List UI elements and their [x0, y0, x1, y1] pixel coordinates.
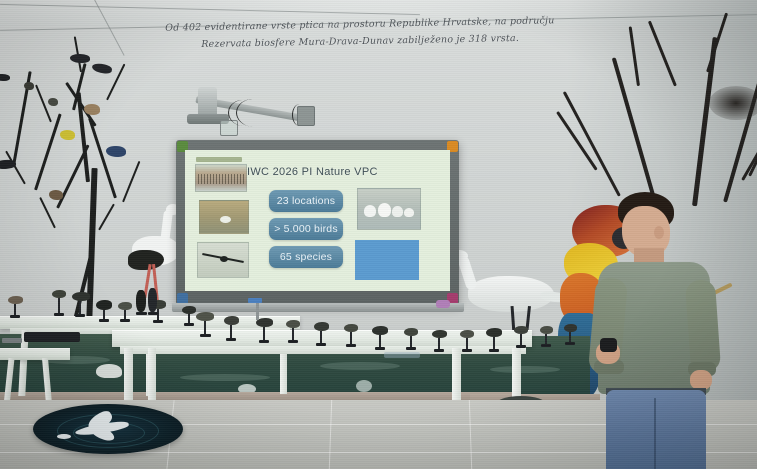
table-stand	[256, 300, 259, 320]
table-leg	[148, 348, 156, 408]
interactive-whiteboard[interactable]: IWC 2026 PI Nature VPC	[176, 140, 459, 305]
tree-twig	[39, 197, 56, 228]
branch-limb	[563, 91, 621, 197]
swan-on-water-photo	[199, 200, 249, 234]
presentation-slide: IWC 2026 PI Nature VPC	[185, 150, 450, 291]
mural-bird-small	[24, 82, 34, 90]
swans-group-photo	[357, 188, 421, 230]
branch-twig	[628, 26, 639, 86]
slide-pill-birds: > 5.000 birds	[269, 218, 343, 240]
branch-twig	[648, 21, 677, 87]
blue-placeholder-block	[355, 240, 419, 280]
slide-title: IWC 2026 PI Nature VPC	[247, 166, 378, 178]
desk-card	[2, 338, 22, 343]
tree-twig	[98, 204, 115, 231]
display-tray	[24, 332, 80, 342]
mural-bird-dark	[0, 74, 10, 81]
table-label	[384, 352, 420, 358]
mural-bird-crow	[70, 54, 90, 63]
branch-twig	[706, 13, 728, 73]
whiteboard-pen-tray[interactable]	[172, 303, 464, 312]
presenter-jeans	[606, 390, 706, 469]
presenter-arm-right	[685, 279, 721, 373]
mural-bird-sparrow	[84, 104, 100, 115]
presenter	[592, 192, 727, 469]
room-photo-scene: Od 402 evidentirane vrste ptica na prost…	[0, 0, 757, 469]
branch-limb	[723, 48, 757, 203]
blue-label	[248, 298, 262, 303]
mural-bird-kingfisher	[106, 146, 126, 157]
tree-limb	[34, 113, 62, 190]
presenter-ear	[654, 226, 664, 239]
bird-in-flight-photo	[197, 242, 249, 278]
branch-limb	[612, 57, 657, 202]
mural-bird-brown	[49, 190, 63, 200]
tree-twig	[122, 161, 140, 203]
branch-foliage	[709, 86, 757, 120]
magenta-object	[436, 300, 450, 308]
presentation-remote[interactable]	[600, 338, 617, 352]
projector-mount-post	[198, 87, 217, 117]
mural-bird-yellow	[60, 130, 75, 140]
round-bird-rug	[33, 404, 183, 454]
jeans-seam	[654, 398, 656, 469]
mural-bird-small	[48, 98, 58, 106]
mural-bird-crow	[91, 63, 112, 75]
slide-header-bar	[196, 157, 242, 162]
presenter-hand-right	[690, 370, 712, 390]
tree-mural-left	[0, 18, 204, 328]
slide-pill-species: 65 species	[269, 246, 343, 268]
projection-surface: IWC 2026 PI Nature VPC	[185, 150, 450, 291]
slide-pill-locations: 23 locations	[269, 190, 343, 212]
table-leg	[452, 348, 461, 406]
branch-main	[692, 37, 718, 206]
rug-bird-tail	[57, 434, 71, 439]
flock-on-shore-photo	[195, 164, 247, 192]
projector-cable	[292, 104, 307, 126]
branch-installation	[567, 0, 757, 200]
